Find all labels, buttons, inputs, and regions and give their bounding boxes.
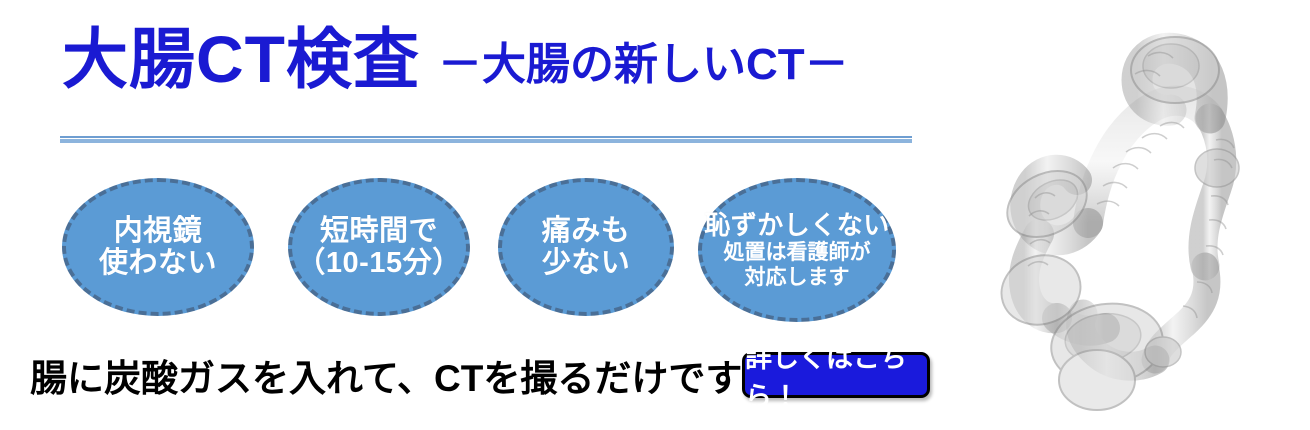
colon-ct-promo-banner: 大腸CT検査 －大腸の新しいCT－ 内視鏡 使わない 短時間で （10-15分）…: [0, 0, 1310, 430]
details-button[interactable]: 詳しくはこちら！: [742, 352, 930, 398]
title-divider: [60, 136, 912, 143]
bubble-line-2: （10-15分）: [296, 247, 461, 279]
feature-bubble-endoscope: 内視鏡 使わない: [62, 178, 254, 316]
bubble-line-1: 痛みも: [542, 215, 631, 247]
bubble-line-1: 恥ずかしくない: [704, 211, 890, 240]
feature-bubble-group: 内視鏡 使わない 短時間で （10-15分） 痛みも 少ない 恥ずかしくない 処…: [0, 173, 940, 323]
feature-bubble-short-time: 短時間で （10-15分）: [288, 178, 470, 316]
page-title: 大腸CT検査: [62, 26, 420, 92]
banner-title-row: 大腸CT検査 －大腸の新しいCT－: [62, 26, 849, 92]
feature-bubble-not-embarrassing: 恥ずかしくない 処置は看護師が 対応します: [698, 178, 896, 322]
colon-ct-svg: [985, 8, 1300, 423]
bubble-line-3: 対応します: [745, 266, 850, 290]
bubble-line-1: 短時間で: [320, 215, 438, 247]
procedure-tagline: 腸に炭酸ガスを入れて、CTを撮るだけです: [30, 348, 742, 402]
feature-bubble-less-pain: 痛みも 少ない: [498, 178, 674, 316]
divider-line-bottom: [60, 139, 912, 143]
bubble-line-2: 少ない: [542, 247, 631, 279]
bubble-line-2: 処置は看護師が: [724, 241, 871, 265]
bubble-line-1: 内視鏡: [114, 215, 203, 247]
page-subtitle: －大腸の新しいCT－: [438, 43, 849, 87]
colon-ct-3d-render: [985, 8, 1300, 423]
bubble-line-2: 使わない: [99, 247, 217, 279]
